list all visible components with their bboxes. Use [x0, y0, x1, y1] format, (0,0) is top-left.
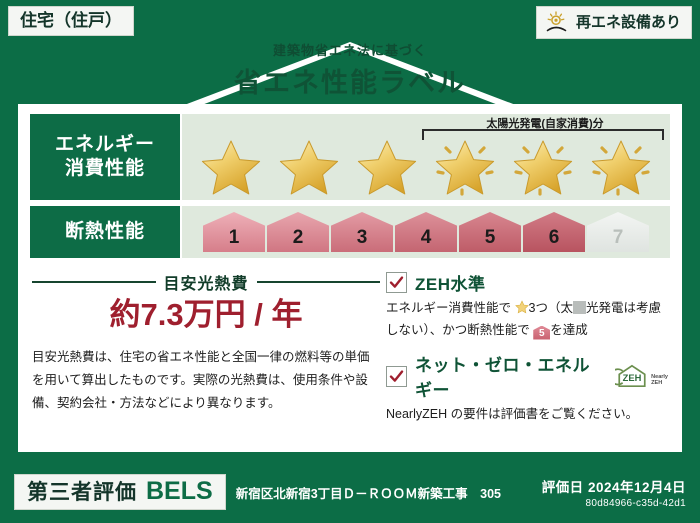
utility-cost-amount: 約7.3万円 / 年 — [32, 298, 380, 332]
energy-key-line1: エネルギー — [55, 133, 155, 157]
net-zero-energy-block: ネット・ゼロ・エネルギー ZEH Nearly ZEH — [386, 351, 668, 426]
insulation-performance-key: 断熱性能 — [30, 206, 182, 258]
energy-key-line2: 消費性能 — [65, 157, 145, 181]
energy-label-root: 住宅（住戸） 再エネ設備あり 建築物省エネ法に基づく 省エネ性能ラベル エネルギ… — [0, 0, 700, 523]
utility-cost-heading: 目安光熱費 — [32, 270, 380, 294]
insulation-level-3: 3 — [331, 212, 393, 252]
utility-cost-block: 目安光熱費 約7.3万円 / 年 目安光熱費は、住宅の省エネ性能と全国一律の燃料… — [32, 270, 380, 436]
star-filled — [276, 134, 342, 196]
bels-certification-chip: 第三者評価 BELS — [14, 474, 226, 510]
header-subtitle: 建築物省エネ法に基づく — [0, 40, 700, 59]
insulation-level-5: 5 — [459, 212, 521, 252]
renewable-equipment-badge: 再エネ設備あり — [536, 6, 692, 39]
net-zero-checkbox[interactable] — [386, 366, 407, 387]
star-filled — [354, 134, 420, 196]
insulation-level-2: 2 — [267, 212, 329, 252]
net-zero-label: ネット・ゼロ・エネルギー — [415, 351, 604, 401]
label-header: 建築物省エネ法に基づく 省エネ性能ラベル — [0, 40, 700, 100]
obscured-character — [573, 301, 586, 314]
zeh-block-container: ZEH水準 エネルギー消費性能で 3つ（太光発電は考慮しない）、かつ断熱性能で … — [380, 270, 668, 436]
zeh-desc-part-b: 3つ（太 — [529, 301, 573, 315]
label-main-card: エネルギー 消費性能 太陽光発電(自家消費)分 断熱性能 1234567 — [18, 104, 682, 452]
bels-jp-label: 第三者評価 — [27, 482, 137, 503]
insulation-level-1: 1 — [203, 212, 265, 252]
utility-cost-label: 目安光熱費 — [164, 270, 249, 294]
zeh-standard-title-row: ZEH水準 — [386, 270, 668, 295]
header-title: 省エネ性能ラベル — [0, 61, 700, 100]
energy-performance-key: エネルギー 消費性能 — [30, 114, 182, 200]
zeh-standard-checkbox[interactable] — [386, 272, 407, 293]
zeh-desc-part-d: を達成 — [550, 323, 588, 337]
zeh-house-icon: ZEH — [615, 363, 649, 389]
zeh-logo-sub-line2: ZEH — [651, 380, 662, 386]
net-zero-description: NearlyZEH の要件は評価書をご覧ください。 — [386, 404, 668, 426]
zeh-standard-block: ZEH水準 エネルギー消費性能で 3つ（太光発電は考慮しない）、かつ断熱性能で … — [386, 270, 668, 341]
bels-en-label: BELS — [146, 479, 213, 504]
insulation-performance-row: 断熱性能 1234567 — [30, 206, 670, 258]
insulation-level-4: 4 — [395, 212, 457, 252]
zeh-desc-part-a: エネルギー消費性能で — [386, 301, 511, 315]
property-address: 新宿区北新宿3丁目Ｄ－ＲＯＯＭ新築工事 305 — [236, 483, 501, 502]
star-solar — [588, 134, 654, 196]
energy-performance-row: エネルギー 消費性能 太陽光発電(自家消費)分 — [30, 114, 670, 200]
star-solar — [510, 134, 576, 196]
renewable-badge-label: 再エネ設備あり — [576, 15, 681, 30]
svg-text:ZEH: ZEH — [623, 373, 642, 383]
zeh-logo: ZEH Nearly ZEH — [615, 363, 668, 389]
rule-right — [257, 281, 381, 283]
insulation-level-6: 6 — [523, 212, 585, 252]
insulation-level-7: 7 — [587, 212, 649, 252]
evaluation-id: 80d84966-c35d-42d1 — [542, 498, 686, 509]
label-footer: 第三者評価 BELS 新宿区北新宿3丁目Ｄ－ＲＯＯＭ新築工事 305 評価日 2… — [0, 461, 700, 523]
star-rating — [182, 130, 670, 200]
star-solar — [432, 134, 498, 196]
insulation-key-label: 断熱性能 — [65, 220, 145, 244]
check-icon — [389, 275, 404, 290]
star-filled — [198, 134, 264, 196]
check-icon — [389, 369, 404, 384]
housing-type-chip: 住宅（住戸） — [8, 6, 134, 36]
lower-section: 目安光熱費 約7.3万円 / 年 目安光熱費は、住宅の省エネ性能と全国一律の燃料… — [32, 270, 668, 436]
evaluation-info: 評価日 2024年12月4日 80d84966-c35d-42d1 — [542, 476, 686, 509]
inline-level-badge: 5 — [533, 326, 550, 340]
insulation-level-scale: 1234567 — [182, 206, 670, 258]
utility-cost-note: 目安光熱費は、住宅の省エネ性能と全国一律の燃料等の単価を用いて算出したものです。… — [32, 346, 380, 415]
zeh-standard-label: ZEH水準 — [415, 270, 486, 295]
net-zero-title-row: ネット・ゼロ・エネルギー ZEH Nearly ZEH — [386, 351, 668, 401]
inline-star-icon — [515, 300, 529, 314]
zeh-logo-sub: Nearly ZEH — [651, 374, 668, 389]
evaluation-date: 評価日 2024年12月4日 — [542, 476, 686, 496]
insulation-performance-value: 1234567 — [182, 206, 670, 258]
zeh-standard-description: エネルギー消費性能で 3つ（太光発電は考慮しない）、かつ断熱性能で 5を達成 — [386, 298, 668, 341]
sun-solar-icon — [545, 11, 569, 33]
energy-performance-value: 太陽光発電(自家消費)分 — [182, 114, 670, 200]
rule-left — [32, 281, 156, 283]
